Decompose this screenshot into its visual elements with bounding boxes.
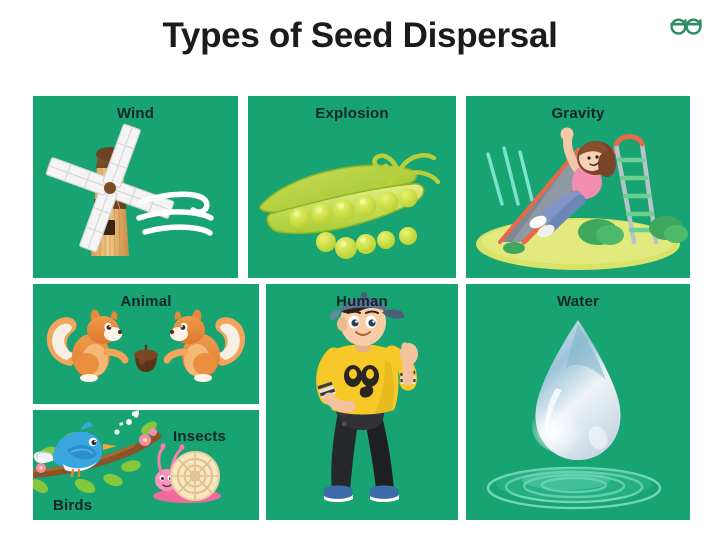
panel-wind: Wind — [33, 96, 238, 278]
panel-animal: Animal — [33, 284, 259, 404]
panel-explosion: Explosion — [248, 96, 456, 278]
panel-water: Water — [466, 284, 690, 520]
panel-birds-insects: Insects Birds — [33, 410, 259, 520]
panel-human: Human — [266, 284, 458, 520]
panel-label-explosion: Explosion — [248, 105, 456, 122]
panel-label-birds: Birds — [53, 497, 92, 514]
panel-label-wind: Wind — [33, 105, 238, 122]
panel-label-gravity: Gravity — [466, 105, 690, 122]
seed-dispersal-infographic: Types of Seed Dispersal Wind — [0, 0, 720, 539]
panel-label-water: Water — [466, 293, 690, 310]
panel-label-animal: Animal — [33, 293, 259, 310]
header: Types of Seed Dispersal — [0, 0, 720, 92]
windmill-with-wind-lines-icon — [33, 96, 238, 278]
pea-pod-bursting-peas-icon — [248, 96, 456, 278]
panel-gravity: Gravity — [466, 96, 690, 278]
page-title: Types of Seed Dispersal — [0, 16, 720, 56]
panel-label-human: Human — [266, 293, 458, 310]
geeksforgeeks-logo-icon — [666, 12, 706, 40]
water-droplet-with-ripples-icon — [466, 284, 690, 520]
panel-label-insects: Insects — [173, 428, 226, 445]
boy-with-cap-yellow-shirt-icon — [266, 284, 458, 520]
girl-on-playground-slide-icon — [466, 96, 690, 278]
